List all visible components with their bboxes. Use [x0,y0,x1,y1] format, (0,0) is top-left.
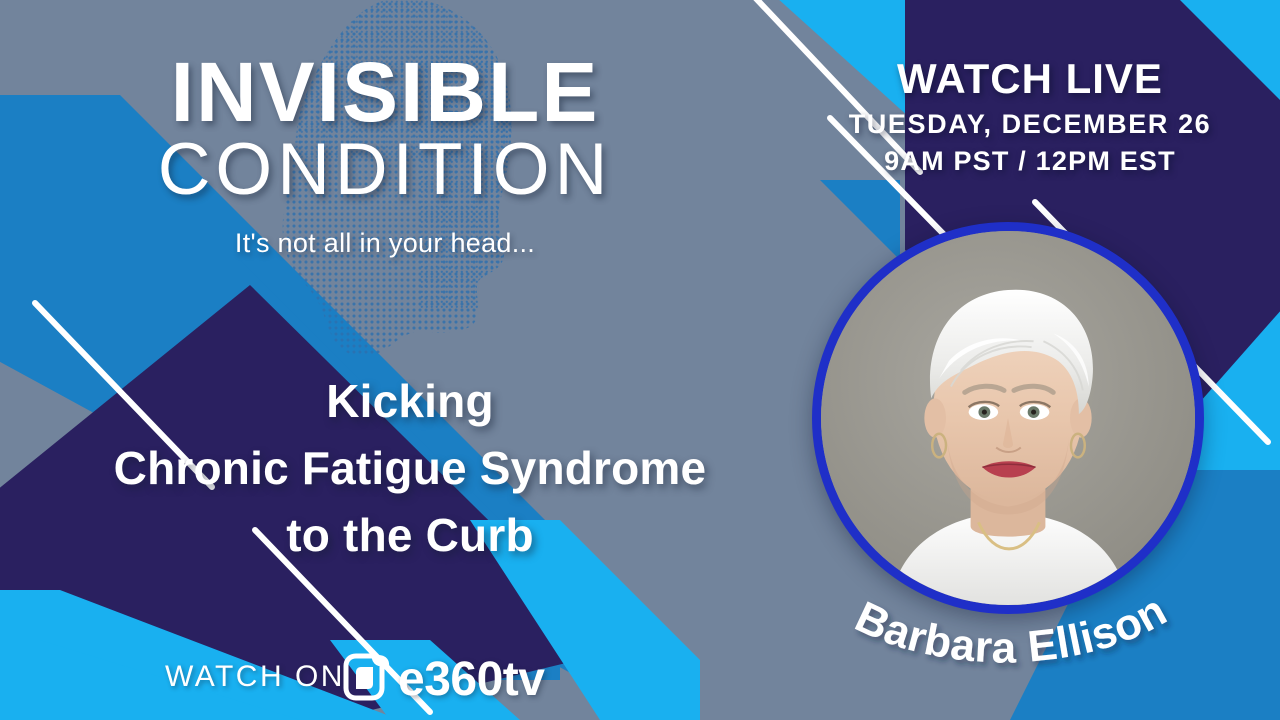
e360tv-logo-icon [336,646,398,708]
headline-line-3: to the Curb [0,502,820,569]
show-title-block: INVISIBLE CONDITION It's not all in your… [0,52,770,259]
guest-portrait [812,222,1204,614]
broadcast-time: 9AM PST / 12PM EST [800,146,1260,177]
broadcast-info: WATCH LIVE TUESDAY, DECEMBER 26 9AM PST … [800,55,1260,177]
promo-graphic: INVISIBLE CONDITION It's not all in your… [0,0,1280,720]
guest-name-arc: Barbara Ellison [800,560,1220,710]
episode-headline: Kicking Chronic Fatigue Syndrome to the … [0,368,820,569]
watch-live-label: WATCH LIVE [800,55,1260,103]
show-title-line1: INVISIBLE [0,52,770,133]
watch-on-label: WATCH ON [165,660,345,694]
headline-line-1: Kicking [0,368,820,435]
headline-line-2: Chronic Fatigue Syndrome [0,435,820,502]
show-title-line2: CONDITION [0,133,770,206]
svg-text:Barbara Ellison: Barbara Ellison [848,586,1175,673]
show-tagline: It's not all in your head... [0,228,770,259]
guest-photo [821,231,1195,605]
broadcast-date: TUESDAY, DECEMBER 26 [800,109,1260,140]
guest-name-text: Barbara Ellison [848,586,1175,673]
e360tv-wordmark: e360tv [398,652,544,707]
